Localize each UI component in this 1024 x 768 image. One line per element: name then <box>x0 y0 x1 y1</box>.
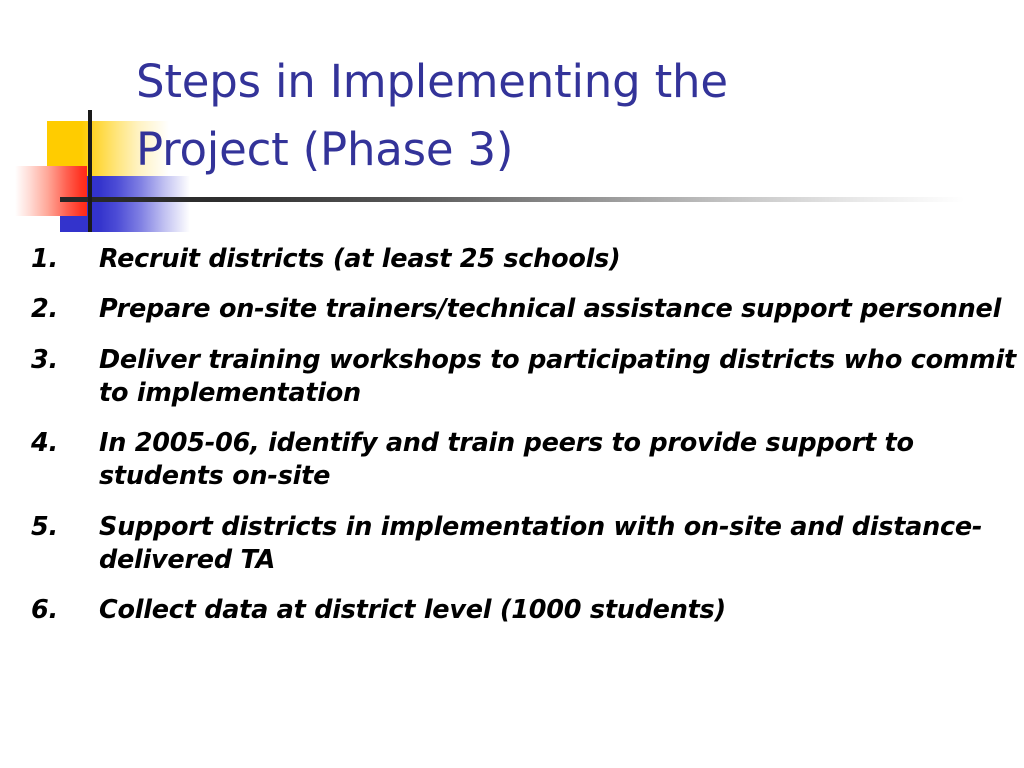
list-item-label: In 2005-06, identify and train peers to … <box>99 427 1016 494</box>
blue-square-tail-icon <box>60 205 90 232</box>
list-item: 3. Deliver training workshops to partici… <box>31 344 1016 411</box>
title-block: Steps in Implementing the Project (Phase… <box>136 48 836 185</box>
page-title: Steps in Implementing the Project (Phase… <box>136 48 836 185</box>
list-item-label: Collect data at district level (1000 stu… <box>99 594 1016 627</box>
list-item-label: Recruit districts (at least 25 schools) <box>99 243 1016 276</box>
vertical-rule <box>88 110 92 232</box>
list-item: 5. Support districts in implementation w… <box>31 511 1016 578</box>
list-item: 1. Recruit districts (at least 25 school… <box>31 243 1016 276</box>
list-item-label: Prepare on-site trainers/technical assis… <box>99 293 1016 326</box>
list-item: 6. Collect data at district level (1000 … <box>31 594 1016 627</box>
horizontal-rule <box>60 197 965 202</box>
list-item-number: 4. <box>31 427 81 460</box>
list-item: 4. In 2005-06, identify and train peers … <box>31 427 1016 494</box>
red-square-icon <box>15 166 87 216</box>
list-item-number: 3. <box>31 344 81 377</box>
list-item-number: 6. <box>31 594 81 627</box>
presentation-slide: Steps in Implementing the Project (Phase… <box>0 0 1024 768</box>
list-item-number: 2. <box>31 293 81 326</box>
list-item-number: 5. <box>31 511 81 544</box>
list-item-label: Support districts in implementation with… <box>99 511 1016 578</box>
numbered-steps-list: 1. Recruit districts (at least 25 school… <box>31 243 1016 627</box>
list-item-number: 1. <box>31 243 81 276</box>
list-item: 2. Prepare on-site trainers/technical as… <box>31 293 1016 326</box>
list-item-label: Deliver training workshops to participat… <box>99 344 1016 411</box>
